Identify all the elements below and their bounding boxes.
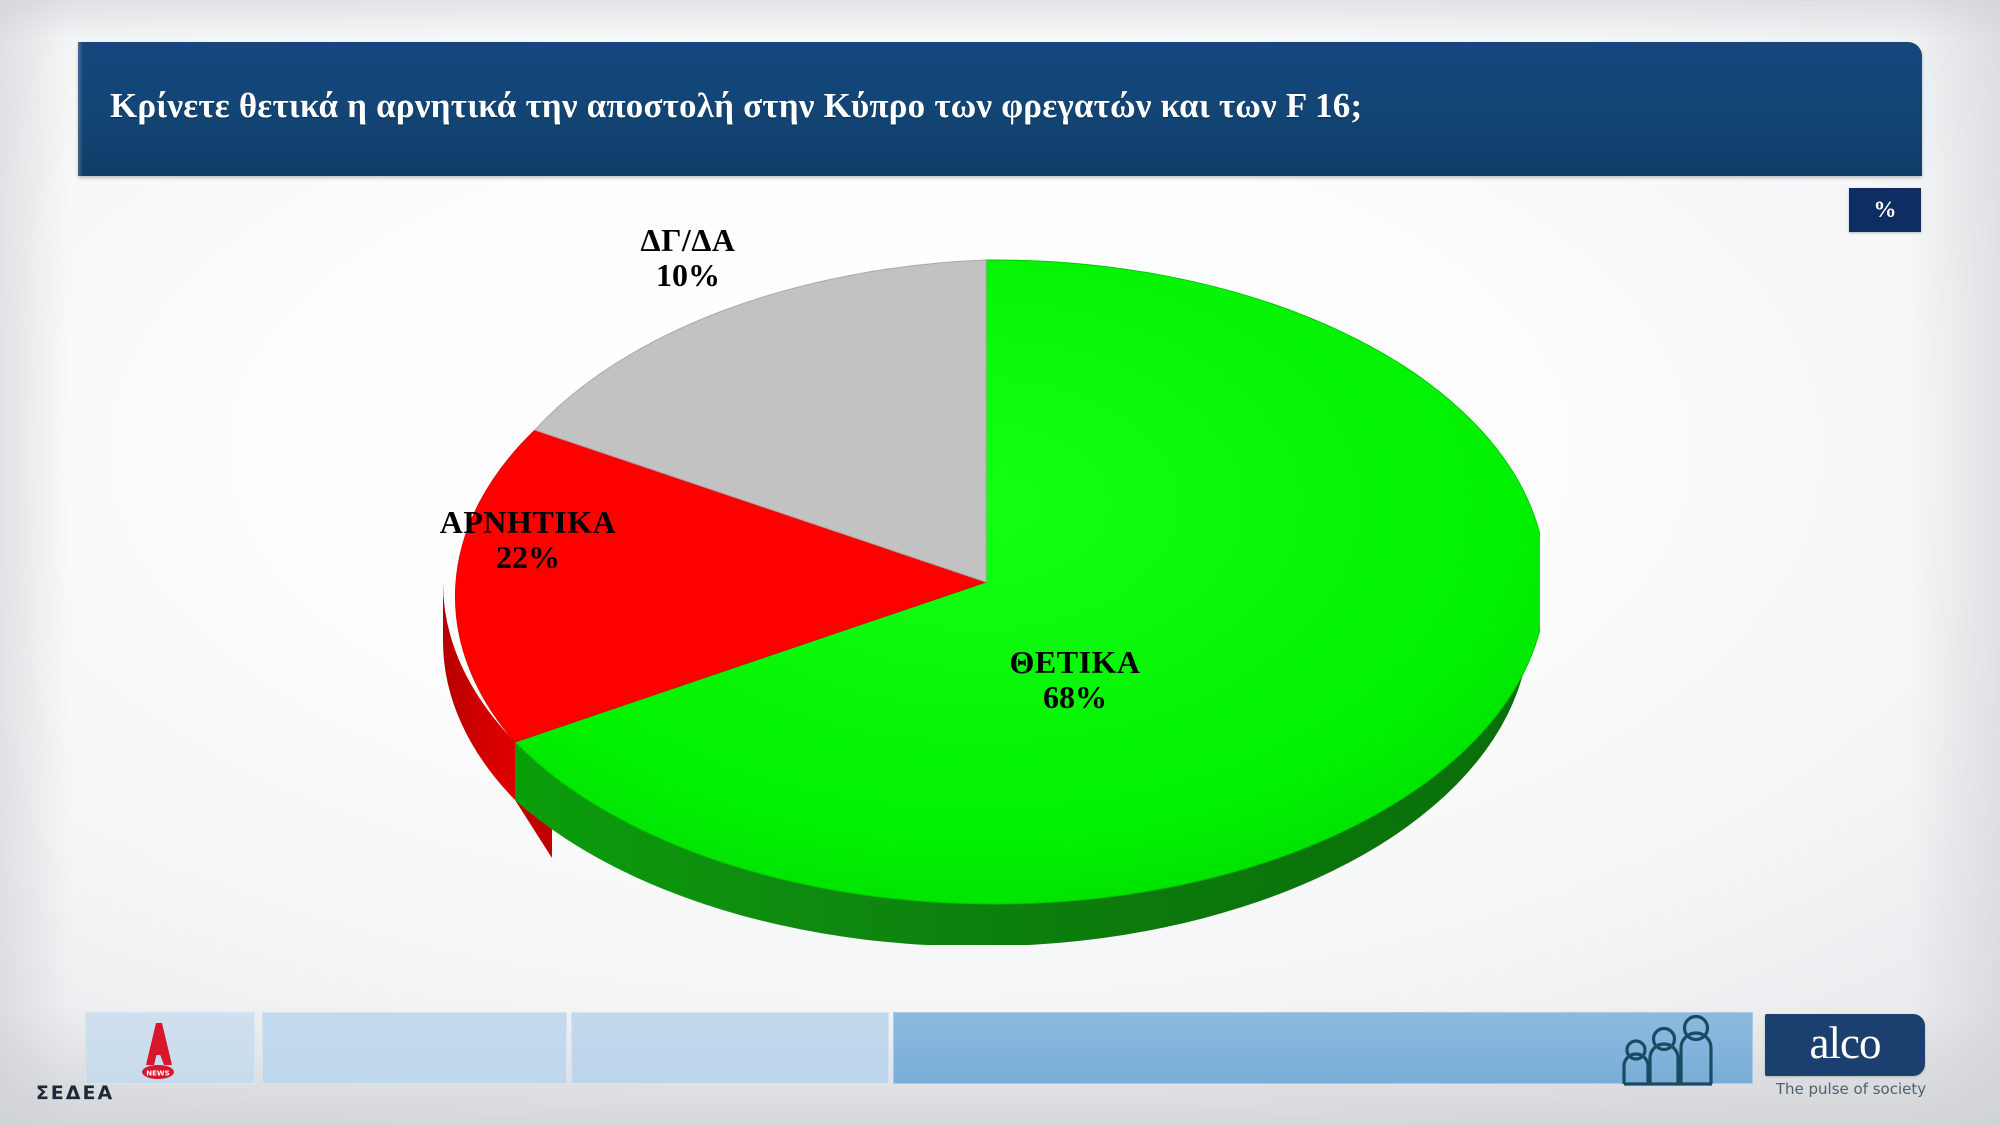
pie-label-positive: ΘΕΤΙΚΑ 68% <box>910 645 1240 714</box>
unit-percent-label: % <box>1874 197 1897 223</box>
pie-label-dgda-name: ΔΓ/ΔΑ <box>558 223 818 258</box>
page-title: Κρίνετε θετικά η αρνητικά την αποστολή σ… <box>110 86 1902 126</box>
sedea-logo-label: ΣΕΔΕΑ <box>0 1082 150 1104</box>
footer-cell-brand[interactable]: NEWS <box>85 1012 255 1084</box>
alco-logo: alco <box>1765 1014 1925 1076</box>
pie-label-negative: ΑΡΝΗΤΙΚΑ 22% <box>368 505 688 574</box>
alpha-news-logo-icon: NEWS <box>126 1017 190 1081</box>
pie-label-dgda-value: 10% <box>558 258 818 293</box>
footer-bar: NEWS ΣΕΔΕΑ alco The pulse of society <box>0 1000 2000 1125</box>
slide-canvas: Κρίνετε θετικά η αρνητικά την αποστολή σ… <box>0 0 2000 1125</box>
unit-percent-badge: % <box>1849 188 1921 232</box>
sedea-logo-icon <box>1600 1006 1750 1118</box>
pie-chart-svg <box>440 255 1540 945</box>
footer-cell-2 <box>262 1012 567 1084</box>
pie-label-positive-name: ΘΕΤΙΚΑ <box>910 645 1240 680</box>
pie-label-negative-value: 22% <box>368 540 688 575</box>
pie-label-negative-name: ΑΡΝΗΤΙΚΑ <box>368 505 688 540</box>
alpha-news-logo-text: NEWS <box>146 1070 169 1078</box>
title-bar: Κρίνετε θετικά η αρνητικά την αποστολή σ… <box>78 42 1922 176</box>
alco-logo-word: alco <box>1810 1021 1881 1066</box>
alco-tagline: The pulse of society <box>1765 1080 1937 1098</box>
footer-cell-3 <box>571 1012 889 1084</box>
pie-chart: ΔΓ/ΔΑ 10% ΑΡΝΗΤΙΚΑ 22% ΘΕΤΙΚΑ 68% <box>440 255 1540 945</box>
pie-label-dgda: ΔΓ/ΔΑ 10% <box>558 223 818 292</box>
pie-label-positive-value: 68% <box>910 680 1240 715</box>
